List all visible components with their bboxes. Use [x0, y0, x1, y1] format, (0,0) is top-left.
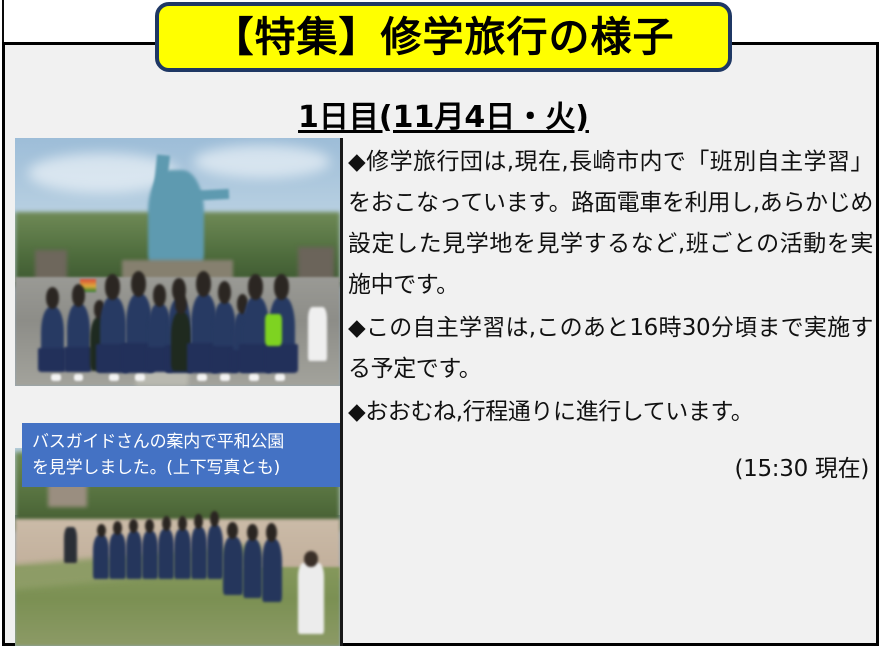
page-root: 1日目(11月4日・火) [0, 0, 883, 649]
teacher-figure [298, 563, 324, 634]
left-margin-rule [2, 0, 4, 44]
green-backpack [265, 314, 281, 346]
student-figure [93, 535, 109, 579]
student-figure [109, 533, 125, 579]
photo-column: バスガイドさんの案内で平和公園 を見学しました。(上下写真とも) [15, 138, 340, 646]
student-figure [41, 307, 64, 371]
column-divider [340, 138, 343, 646]
student-figure [174, 529, 190, 579]
caption-line-2: を見学しました。(上下写真とも) [32, 455, 339, 481]
article-timestamp: (15:30 現在) [346, 449, 879, 483]
adult-figure [64, 527, 77, 563]
caption-line-1: バスガイドさんの案内で平和公園 [32, 429, 339, 455]
article-paragraph-1: ◆修学旅行団は,現在,長崎市内で「班別自主学習」をおこなっています。路面電車を利… [346, 142, 879, 306]
student-figure [67, 304, 90, 371]
article-paragraph-3: ◆おおむね,行程通りに進行しています。 [346, 392, 879, 433]
student-figure [243, 539, 263, 598]
student-figure [158, 529, 174, 579]
student-figure [223, 537, 243, 594]
student-figure [191, 527, 207, 578]
student-figure [262, 539, 282, 602]
photo-caption-box: バスガイドさんの案内で平和公園 を見学しました。(上下写真とも) [22, 423, 340, 487]
day-subtitle: 1日目(11月4日・火) [298, 92, 589, 136]
student-figure [207, 525, 223, 578]
student-figure [126, 531, 142, 579]
body-columns: バスガイドさんの案内で平和公園 を見学しました。(上下写真とも) ◆修学旅行団は… [8, 138, 879, 646]
feature-title-banner: 【特集】修学旅行の様子 [155, 2, 732, 72]
cloud-shape [194, 145, 331, 177]
student-figure [142, 531, 158, 579]
peace-statue-photo [15, 138, 340, 386]
article-paragraph-2: ◆この自主学習は,このあと16時30分頃まで実施する予定です。 [346, 308, 879, 390]
page-title: 【特集】修学旅行の様子 [213, 17, 675, 58]
article-column: ◆修学旅行団は,現在,長崎市内で「班別自主学習」をおこなっています。路面電車を利… [346, 138, 879, 646]
adult-figure [308, 307, 328, 362]
content-panel: 1日目(11月4日・火) [2, 42, 879, 646]
day-subtitle-row: 1日目(11月4日・火) [8, 89, 879, 139]
